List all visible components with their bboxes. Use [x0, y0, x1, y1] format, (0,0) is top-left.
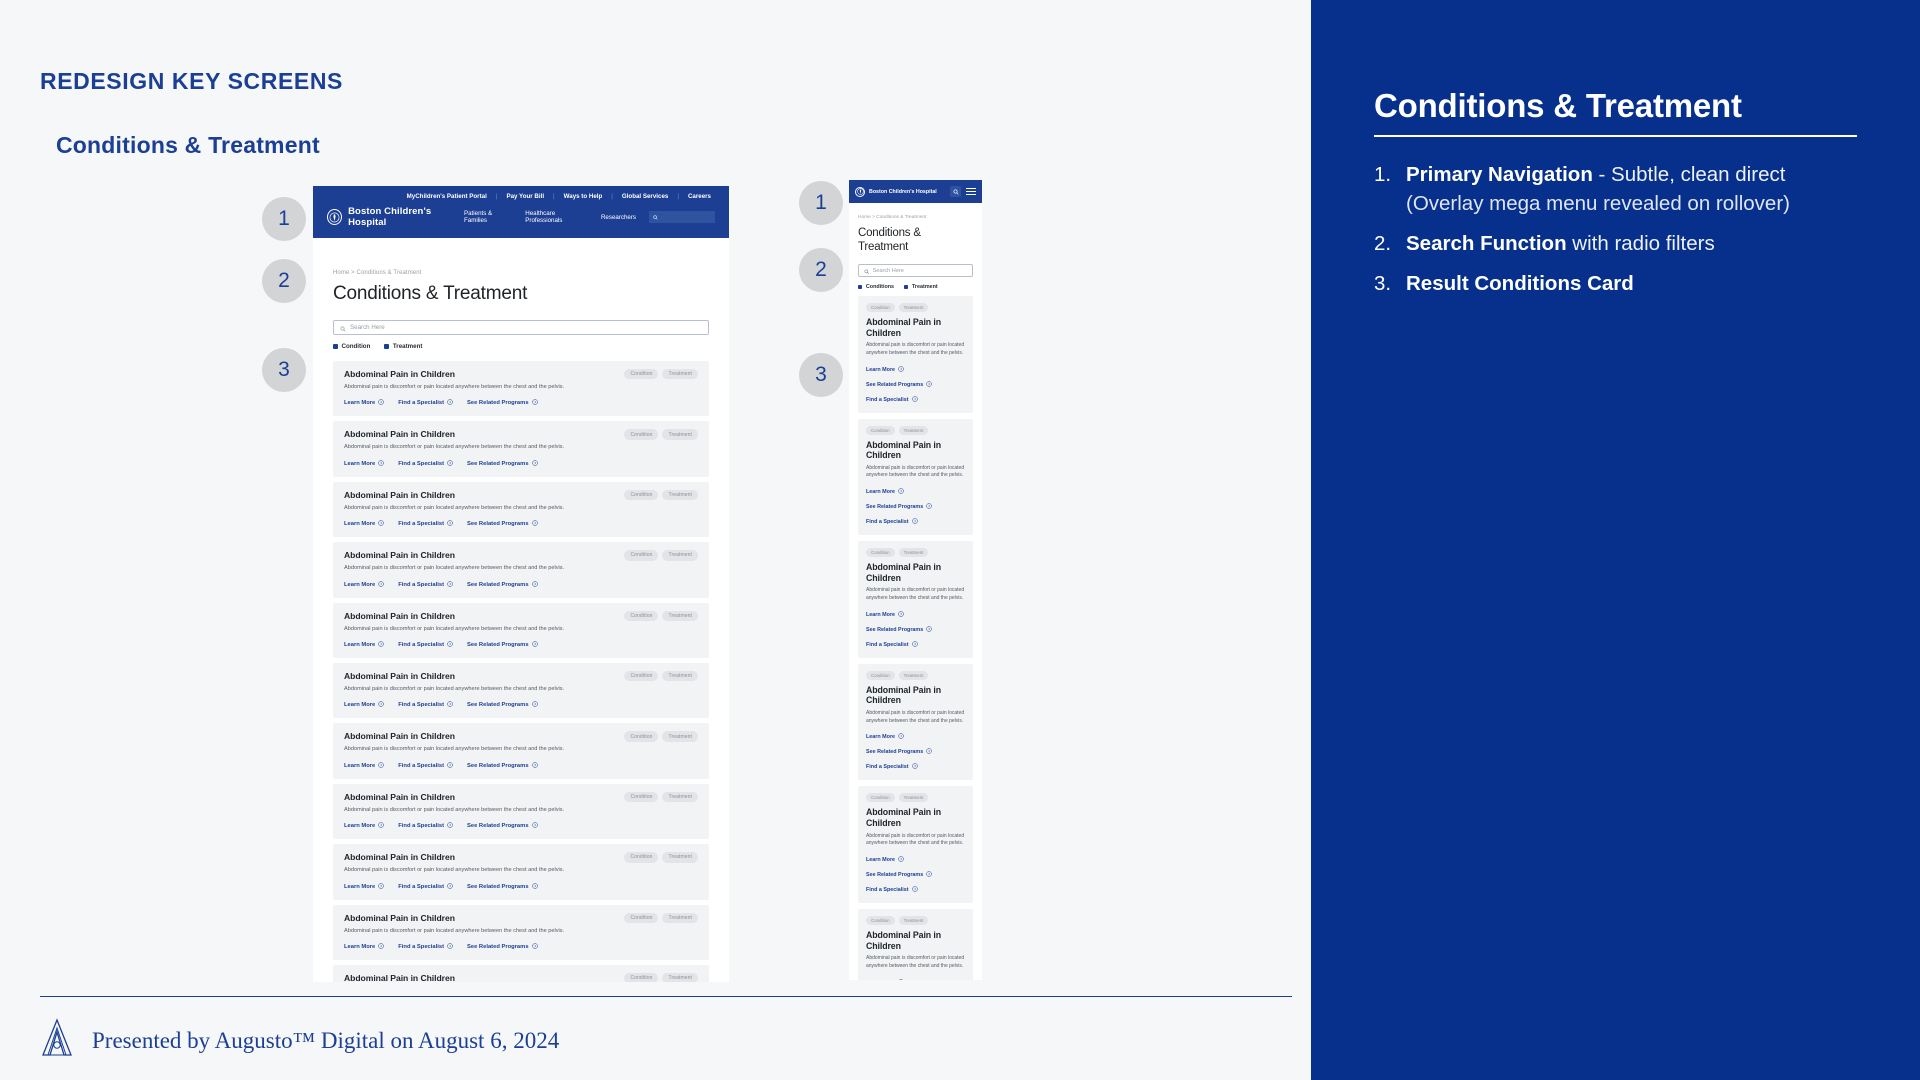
panel-item-number: 3. [1374, 269, 1396, 298]
card-description: Abdominal pain is discomfort or pain loc… [344, 504, 594, 512]
card-link-learn-more[interactable]: Learn More [344, 641, 384, 649]
radio-indicator [904, 285, 908, 289]
card-link-see-related-programs[interactable]: See Related Programs [866, 748, 965, 756]
card-link-label: Learn More [344, 823, 375, 829]
card-link-label: Find a Specialist [398, 944, 444, 950]
utility-nav-link[interactable]: Global Services [622, 193, 668, 200]
arrow-circle-icon [926, 748, 932, 756]
card-tag: Treatment [899, 793, 929, 802]
card-link-label: Learn More [344, 702, 375, 708]
card-tag-group: ConditionTreatment [866, 671, 965, 680]
arrow-circle-icon [898, 611, 904, 619]
card-tag-group: ConditionTreatment [624, 973, 698, 982]
card-link-learn-more[interactable]: Learn More [344, 581, 384, 589]
result-card[interactable]: ConditionTreatmentAbdominal Pain in Chil… [333, 784, 709, 839]
card-link-find-a-specialist[interactable]: Find a Specialist [866, 396, 965, 404]
filter-radio-group: ConditionTreatment [333, 343, 709, 350]
card-link-group: Learn MoreSee Related ProgramsFind a Spe… [866, 366, 965, 404]
card-link-group: Learn MoreFind a SpecialistSee Related P… [344, 943, 698, 951]
card-link-label: Learn More [866, 367, 895, 373]
card-link-see-related-programs[interactable]: See Related Programs [467, 581, 538, 589]
result-card[interactable]: ConditionTreatmentAbdominal Pain in Chil… [858, 541, 973, 658]
card-link-learn-more[interactable]: Learn More [866, 488, 965, 496]
search-placeholder: Search Here [350, 324, 385, 331]
card-tag: Condition [866, 793, 895, 802]
desktop-mockup: MyChildren's Patient Portal|Pay Your Bil… [313, 186, 729, 982]
card-link-learn-more[interactable]: Learn More [344, 943, 384, 951]
card-description: Abdominal pain is discomfort or pain loc… [866, 710, 965, 726]
card-link-group: Learn MoreFind a SpecialistSee Related P… [344, 460, 698, 468]
card-link-learn-more[interactable]: Learn More [344, 701, 384, 709]
utility-nav-link[interactable]: Pay Your Bill [506, 193, 544, 200]
card-link-label: Learn More [344, 400, 375, 406]
result-card[interactable]: ConditionTreatmentAbdominal Pain in Chil… [333, 905, 709, 960]
card-tag: Treatment [899, 671, 929, 680]
card-tag: Condition [866, 916, 895, 925]
results-list: ConditionTreatmentAbdominal Pain in Chil… [333, 361, 709, 982]
utility-nav-separator: | [611, 193, 613, 200]
arrow-circle-icon [898, 733, 904, 741]
header-search-input[interactable] [649, 211, 715, 223]
result-card[interactable]: ConditionTreatmentAbdominal Pain in Chil… [858, 664, 973, 781]
card-link-label: See Related Programs [467, 461, 529, 467]
arrow-circle-icon [532, 399, 538, 407]
filter-radio-treatment[interactable]: Treatment [904, 284, 938, 290]
primary-nav: Patients & FamiliesHealthcare Profession… [464, 210, 715, 224]
card-link-label: Find a Specialist [866, 642, 909, 648]
card-description: Abdominal pain is discomfort or pain loc… [344, 745, 594, 753]
radio-indicator [384, 344, 389, 349]
card-link-find-a-specialist[interactable]: Find a Specialist [398, 641, 453, 649]
callout-mobile-2: 2 [799, 248, 843, 292]
card-link-see-related-programs[interactable]: See Related Programs [467, 762, 538, 770]
card-link-find-a-specialist[interactable]: Find a Specialist [398, 701, 453, 709]
card-tag: Treatment [662, 913, 698, 923]
card-link-see-related-programs[interactable]: See Related Programs [467, 460, 538, 468]
card-tag: Condition [624, 429, 658, 439]
card-tag: Treatment [899, 548, 929, 557]
card-tag-group: ConditionTreatment [624, 671, 698, 681]
card-link-label: Learn More [344, 521, 375, 527]
filter-radio-treatment[interactable]: Treatment [384, 343, 422, 350]
card-tag-group: ConditionTreatment [866, 916, 965, 925]
card-link-learn-more[interactable]: Learn More [344, 883, 384, 891]
card-link-label: See Related Programs [866, 382, 923, 388]
result-card[interactable]: ConditionTreatmentAbdominal Pain in Chil… [333, 844, 709, 899]
arrow-circle-icon [898, 979, 904, 980]
arrow-circle-icon [912, 763, 918, 771]
card-tag-group: ConditionTreatment [624, 550, 698, 560]
result-card[interactable]: ConditionTreatmentAbdominal Pain in Chil… [333, 482, 709, 537]
card-tag: Condition [866, 303, 895, 312]
site-logo-text: Boston Children's Hospital [348, 206, 464, 228]
breadcrumb[interactable]: Home > Conditions & Treatment [333, 270, 709, 276]
card-link-group: Learn MoreSee Related ProgramsFind a Spe… [866, 856, 965, 894]
card-link-label: See Related Programs [467, 763, 529, 769]
card-tag: Condition [866, 671, 895, 680]
card-link-label: See Related Programs [467, 642, 529, 648]
result-card[interactable]: ConditionTreatmentAbdominal Pain in Chil… [333, 965, 709, 982]
arrow-circle-icon [378, 399, 384, 407]
card-description: Abdominal pain is discomfort or pain loc… [344, 625, 594, 633]
arrow-circle-icon [532, 460, 538, 468]
hospital-seal-icon [855, 187, 865, 197]
card-tag-group: ConditionTreatment [866, 793, 965, 802]
panel-item-lead: Search Function [1406, 232, 1567, 255]
result-card[interactable]: ConditionTreatmentAbdominal Pain in Chil… [858, 786, 973, 903]
card-tag-group: ConditionTreatment [624, 852, 698, 862]
card-tag: Condition [624, 913, 658, 923]
panel-item-text: Primary Navigation - Subtle, clean direc… [1406, 160, 1790, 218]
card-tag: Treatment [662, 429, 698, 439]
card-tag-group: ConditionTreatment [624, 913, 698, 923]
card-link-label: Find a Specialist [398, 582, 444, 588]
card-tag: Treatment [662, 611, 698, 621]
panel-item-rest: with radio filters [1567, 232, 1715, 255]
card-link-label: Learn More [344, 642, 375, 648]
card-link-see-related-programs[interactable]: See Related Programs [467, 641, 538, 649]
arrow-circle-icon [378, 701, 384, 709]
card-title: Abdominal Pain in Children [866, 930, 965, 951]
card-link-group: Learn MoreSee Related ProgramsFind a Spe… [866, 611, 965, 649]
card-link-find-a-specialist[interactable]: Find a Specialist [398, 399, 453, 407]
panel-list-item: 2.Search Function with radio filters [1374, 229, 1874, 258]
arrow-circle-icon [447, 399, 453, 407]
card-tag-group: ConditionTreatment [624, 490, 698, 500]
panel-item-lead: Result Conditions Card [1406, 272, 1634, 295]
card-link-label: Find a Specialist [398, 521, 444, 527]
card-tag: Treatment [899, 426, 929, 435]
result-card[interactable]: ConditionTreatmentAbdominal Pain in Chil… [858, 419, 973, 536]
card-title: Abdominal Pain in Children [866, 685, 965, 706]
slide-footer: Presented by Augusto™ Digital on August … [40, 1018, 559, 1063]
panel-title: Conditions & Treatment [1374, 87, 1742, 125]
card-tag: Treatment [899, 916, 929, 925]
search-icon [340, 319, 346, 337]
utility-nav: MyChildren's Patient Portal|Pay Your Bil… [313, 186, 729, 202]
card-tag: Condition [624, 611, 658, 621]
card-description: Abdominal pain is discomfort or pain loc… [866, 465, 965, 481]
arrow-circle-icon [898, 366, 904, 374]
card-link-label: See Related Programs [467, 582, 529, 588]
card-link-label: See Related Programs [467, 521, 529, 527]
arrow-circle-icon [378, 822, 384, 830]
result-card[interactable]: ConditionTreatmentAbdominal Pain in Chil… [333, 663, 709, 718]
card-tag: Condition [624, 550, 658, 560]
mobile-mockup: Boston Children's Hospital Home > Condit… [849, 180, 982, 980]
card-tag-group: ConditionTreatment [866, 303, 965, 312]
card-link-find-a-specialist[interactable]: Find a Specialist [398, 822, 453, 830]
card-tag: Condition [624, 792, 658, 802]
arrow-circle-icon [447, 762, 453, 770]
card-link-label: See Related Programs [467, 944, 529, 950]
card-link-learn-more[interactable]: Learn More [344, 762, 384, 770]
card-link-label: Learn More [866, 734, 895, 740]
card-tag-group: ConditionTreatment [866, 426, 965, 435]
arrow-circle-icon [447, 581, 453, 589]
card-link-find-a-specialist[interactable]: Find a Specialist [866, 641, 965, 649]
card-link-label: Find a Specialist [398, 400, 444, 406]
card-link-see-related-programs[interactable]: See Related Programs [467, 883, 538, 891]
callout-mobile-3: 3 [799, 353, 843, 397]
card-description: Abdominal pain is discomfort or pain loc… [344, 564, 594, 572]
arrow-circle-icon [447, 520, 453, 528]
radio-indicator [333, 344, 338, 349]
arrow-circle-icon [378, 641, 384, 649]
footer-text: Presented by Augusto™ Digital on August … [92, 1028, 559, 1054]
card-link-find-a-specialist[interactable]: Find a Specialist [866, 763, 965, 771]
card-link-find-a-specialist[interactable]: Find a Specialist [866, 518, 965, 526]
card-tag: Condition [624, 852, 658, 862]
card-tag: Condition [624, 369, 658, 379]
arrow-circle-icon [912, 886, 918, 894]
card-link-find-a-specialist[interactable]: Find a Specialist [398, 520, 453, 528]
card-link-group: Learn MoreFind a SpecialistSee Related P… [344, 822, 698, 830]
arrow-circle-icon [532, 762, 538, 770]
card-link-label: Learn More [344, 944, 375, 950]
card-tag: Treatment [899, 303, 929, 312]
card-tag-group: ConditionTreatment [624, 429, 698, 439]
card-description: Abdominal pain is discomfort or pain loc… [344, 685, 594, 693]
card-tag: Treatment [662, 490, 698, 500]
card-link-label: Find a Specialist [866, 764, 909, 770]
utility-nav-link[interactable]: MyChildren's Patient Portal [407, 193, 487, 200]
card-link-label: Find a Specialist [866, 519, 909, 525]
arrow-circle-icon [912, 396, 918, 404]
card-tag: Condition [624, 973, 658, 982]
slide-subtitle: Conditions & Treatment [56, 132, 320, 159]
card-link-find-a-specialist[interactable]: Find a Specialist [866, 886, 965, 894]
card-description: Abdominal pain is discomfort or pain loc… [344, 866, 594, 874]
card-tag: Treatment [662, 671, 698, 681]
footer-divider [40, 996, 1292, 997]
hospital-seal-icon [327, 209, 342, 225]
card-tag-group: ConditionTreatment [624, 369, 698, 379]
utility-nav-separator: | [553, 193, 555, 200]
card-link-group: Learn MoreFind a SpecialistSee Related P… [344, 641, 698, 649]
search-icon [653, 215, 658, 220]
card-link-label: Learn More [866, 489, 895, 495]
arrow-circle-icon [378, 581, 384, 589]
card-description: Abdominal pain is discomfort or pain loc… [866, 587, 965, 603]
card-link-find-a-specialist[interactable]: Find a Specialist [398, 581, 453, 589]
filter-radio-label: Condition [342, 343, 371, 350]
card-link-learn-more[interactable]: Learn More [344, 460, 384, 468]
arrow-circle-icon [378, 762, 384, 770]
panel-annotation-list: 1.Primary Navigation - Subtle, clean dir… [1374, 160, 1874, 309]
utility-nav-link[interactable]: Ways to Help [564, 193, 603, 200]
result-card[interactable]: ConditionTreatmentAbdominal Pain in Chil… [333, 361, 709, 416]
card-link-see-related-programs[interactable]: See Related Programs [467, 399, 538, 407]
card-title: Abdominal Pain in Children [866, 807, 965, 828]
arrow-circle-icon [378, 520, 384, 528]
card-description: Abdominal pain is discomfort or pain loc… [866, 955, 965, 971]
card-link-label: Find a Specialist [398, 702, 444, 708]
panel-item-lead: Primary Navigation [1406, 163, 1593, 186]
site-logo[interactable]: Boston Children's Hospital [327, 206, 464, 228]
card-link-group: Learn MoreFind a SpecialistSee Related P… [344, 883, 698, 891]
card-link-label: Learn More [866, 857, 895, 863]
card-tag: Condition [624, 671, 658, 681]
card-link-label: Find a Specialist [398, 884, 444, 890]
arrow-circle-icon [447, 460, 453, 468]
card-link-label: Find a Specialist [398, 763, 444, 769]
search-icon[interactable] [950, 186, 961, 197]
card-link-see-related-programs[interactable]: See Related Programs [467, 520, 538, 528]
card-link-learn-more[interactable]: Learn More [344, 822, 384, 830]
page-title: Conditions & Treatment [858, 226, 973, 254]
card-tag-group: ConditionTreatment [866, 548, 965, 557]
card-description: Abdominal pain is discomfort or pain loc… [866, 833, 965, 849]
card-link-see-related-programs[interactable]: See Related Programs [467, 943, 538, 951]
card-link-see-related-programs[interactable]: See Related Programs [467, 822, 538, 830]
result-card[interactable]: ConditionTreatmentAbdominal Pain in Chil… [333, 723, 709, 778]
primary-nav-link[interactable]: Patients & Families [464, 210, 512, 224]
card-description: Abdominal pain is discomfort or pain loc… [866, 342, 965, 358]
result-card[interactable]: ConditionTreatmentAbdominal Pain in Chil… [333, 603, 709, 658]
card-tag: Treatment [662, 852, 698, 862]
arrow-circle-icon [532, 701, 538, 709]
card-link-label: Find a Specialist [398, 823, 444, 829]
mobile-site-header: Boston Children's Hospital [849, 180, 982, 203]
card-description: Abdominal pain is discomfort or pain loc… [344, 383, 594, 391]
panel-title-underline [1374, 135, 1857, 137]
panel-item-text: Result Conditions Card [1406, 269, 1634, 298]
card-link-label: Learn More [344, 461, 375, 467]
card-link-label: See Related Programs [467, 823, 529, 829]
card-description: Abdominal pain is discomfort or pain loc… [344, 806, 594, 814]
desktop-site-header: MyChildren's Patient Portal|Pay Your Bil… [313, 186, 729, 238]
card-link-label: Find a Specialist [866, 887, 909, 893]
search-placeholder: Search Here [873, 268, 904, 274]
card-link-learn-more[interactable]: Learn More [866, 856, 965, 864]
arrow-circle-icon [447, 943, 453, 951]
card-link-label: Learn More [866, 612, 895, 618]
card-description: Abdominal pain is discomfort or pain loc… [344, 443, 594, 451]
result-card[interactable]: ConditionTreatmentAbdominal Pain in Chil… [858, 909, 973, 980]
card-link-see-related-programs[interactable]: See Related Programs [866, 871, 965, 879]
arrow-circle-icon [898, 856, 904, 864]
card-link-learn-more[interactable]: Learn More [866, 733, 965, 741]
arrow-circle-icon [926, 503, 932, 511]
card-link-group: Learn MoreSee Related ProgramsFind a Spe… [866, 488, 965, 526]
card-link-label: Find a Specialist [866, 397, 909, 403]
card-link-label: See Related Programs [866, 749, 923, 755]
card-link-group: Learn MoreSee Related ProgramsFind a Spe… [866, 979, 965, 980]
card-link-see-related-programs[interactable]: See Related Programs [467, 701, 538, 709]
arrow-circle-icon [378, 943, 384, 951]
callout-desktop-3: 3 [262, 348, 306, 392]
card-link-find-a-specialist[interactable]: Find a Specialist [398, 460, 453, 468]
card-link-see-related-programs[interactable]: See Related Programs [866, 503, 965, 511]
card-link-group: Learn MoreFind a SpecialistSee Related P… [344, 520, 698, 528]
card-link-label: Find a Specialist [398, 642, 444, 648]
primary-nav-link[interactable]: Researchers [601, 214, 636, 221]
card-link-label: Learn More [344, 884, 375, 890]
filter-radio-label: Conditions [866, 284, 894, 290]
result-card[interactable]: ConditionTreatmentAbdominal Pain in Chil… [333, 542, 709, 597]
callout-mobile-1: 1 [799, 181, 843, 225]
utility-nav-link[interactable]: Careers [688, 193, 711, 200]
card-link-group: Learn MoreFind a SpecialistSee Related P… [344, 701, 698, 709]
hamburger-icon[interactable] [966, 188, 976, 195]
card-tag: Treatment [662, 792, 698, 802]
card-tag: Condition [624, 731, 658, 741]
card-link-learn-more[interactable]: Learn More [344, 399, 384, 407]
card-link-see-related-programs[interactable]: See Related Programs [866, 381, 965, 389]
card-tag-group: ConditionTreatment [624, 792, 698, 802]
result-card[interactable]: ConditionTreatmentAbdominal Pain in Chil… [333, 421, 709, 476]
card-tag: Treatment [662, 369, 698, 379]
arrow-circle-icon [532, 581, 538, 589]
augusto-logo-icon [40, 1018, 74, 1063]
card-tag: Treatment [662, 973, 698, 982]
card-link-learn-more[interactable]: Learn More [866, 611, 965, 619]
panel-item-number: 1. [1374, 160, 1396, 189]
card-link-learn-more[interactable]: Learn More [866, 979, 965, 980]
arrow-circle-icon [532, 520, 538, 528]
search-icon [864, 262, 870, 280]
search-input[interactable]: Search Here [333, 320, 709, 335]
card-link-find-a-specialist[interactable]: Find a Specialist [398, 943, 453, 951]
arrow-circle-icon [926, 381, 932, 389]
card-description: Abdominal pain is discomfort or pain loc… [344, 927, 594, 935]
card-tag: Condition [624, 490, 658, 500]
card-link-group: Learn MoreSee Related ProgramsFind a Spe… [866, 733, 965, 771]
arrow-circle-icon [447, 822, 453, 830]
breadcrumb[interactable]: Home > Conditions & Treatment [858, 215, 973, 220]
card-tag: Condition [866, 548, 895, 557]
card-link-label: See Related Programs [467, 400, 529, 406]
card-tag: Treatment [662, 731, 698, 741]
filter-radio-label: Treatment [393, 343, 423, 350]
filter-radio-label: Treatment [912, 284, 938, 290]
card-link-label: See Related Programs [467, 884, 529, 890]
filter-radio-conditions[interactable]: Conditions [858, 284, 894, 290]
card-link-label: Learn More [344, 582, 375, 588]
arrow-circle-icon [532, 641, 538, 649]
filter-radio-group: ConditionsTreatment [858, 284, 973, 290]
slide-eyebrow: REDESIGN KEY SCREENS [40, 68, 343, 95]
callout-desktop-2: 2 [262, 259, 306, 303]
result-card[interactable]: ConditionTreatmentAbdominal Pain in Chil… [858, 296, 973, 413]
card-link-find-a-specialist[interactable]: Find a Specialist [398, 883, 453, 891]
search-input[interactable]: Search Here [858, 264, 973, 277]
panel-item-rest: - Subtle, clean direct [1593, 163, 1786, 186]
panel-item-subtext: (Overlay mega menu revealed on rollover) [1406, 189, 1790, 218]
slide-canvas: REDESIGN KEY SCREENS Conditions & Treatm… [0, 0, 1311, 1080]
filter-radio-condition[interactable]: Condition [333, 343, 370, 350]
arrow-circle-icon [532, 822, 538, 830]
card-title: Abdominal Pain in Children [866, 440, 965, 461]
card-link-learn-more[interactable]: Learn More [344, 520, 384, 528]
card-link-label: Learn More [344, 763, 375, 769]
card-link-label: See Related Programs [467, 702, 529, 708]
page-title: Conditions & Treatment [333, 283, 709, 305]
panel-item-text: Search Function with radio filters [1406, 229, 1715, 258]
arrow-circle-icon [532, 883, 538, 891]
utility-nav-separator: | [677, 193, 679, 200]
card-link-learn-more[interactable]: Learn More [866, 366, 965, 374]
primary-nav-link[interactable]: Healthcare Professionals [525, 210, 588, 224]
arrow-circle-icon [912, 518, 918, 526]
arrow-circle-icon [532, 943, 538, 951]
card-link-see-related-programs[interactable]: See Related Programs [866, 626, 965, 634]
card-tag: Condition [866, 426, 895, 435]
card-link-group: Learn MoreFind a SpecialistSee Related P… [344, 762, 698, 770]
card-link-find-a-specialist[interactable]: Find a Specialist [398, 762, 453, 770]
card-link-label: See Related Programs [866, 627, 923, 633]
